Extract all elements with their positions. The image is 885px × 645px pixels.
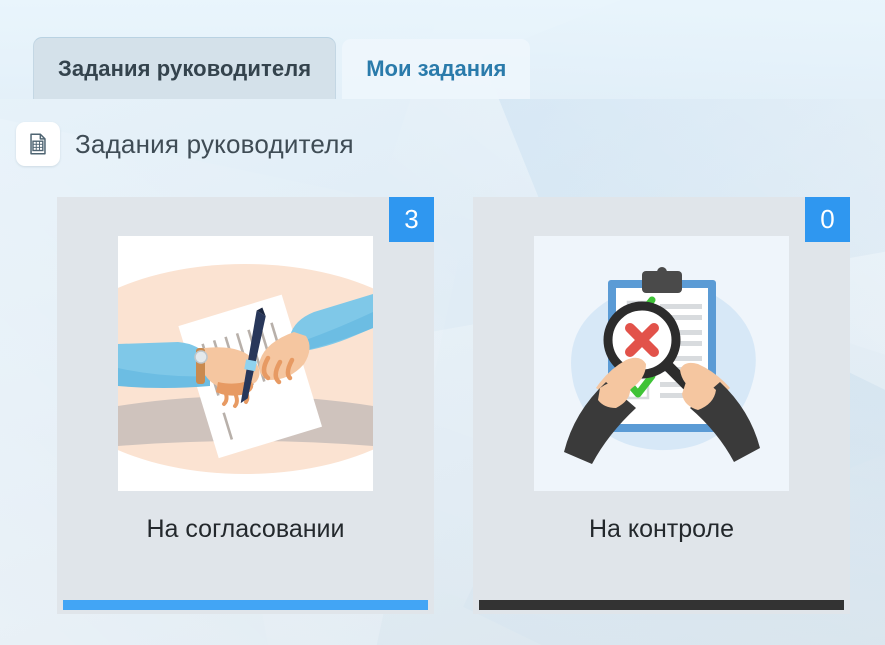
card-status-bar — [479, 600, 844, 610]
tab-bar: Задания руководителя Мои задания — [33, 37, 530, 99]
card-status-bar — [63, 600, 428, 610]
tab-my-tasks[interactable]: Мои задания — [342, 39, 530, 99]
tab-manager-tasks[interactable]: Задания руководителя — [33, 37, 336, 99]
clipboard-checklist-magnifier-icon — [534, 236, 789, 491]
card-title: На согласовании — [96, 509, 396, 550]
card-title: На контроле — [512, 509, 812, 550]
app-root: Задания руководителя Мои задания Задания… — [0, 0, 885, 645]
section-header: Задания руководителя — [16, 122, 354, 166]
task-card-grid: 3 — [57, 197, 850, 614]
status-badge: 3 — [389, 197, 434, 242]
status-badge: 0 — [805, 197, 850, 242]
task-card-control[interactable]: 0 — [473, 197, 850, 614]
document-table-icon — [16, 122, 60, 166]
page-title: Задания руководителя — [75, 129, 354, 160]
task-card-approval[interactable]: 3 — [57, 197, 434, 614]
handshake-signing-document-icon — [118, 236, 373, 491]
